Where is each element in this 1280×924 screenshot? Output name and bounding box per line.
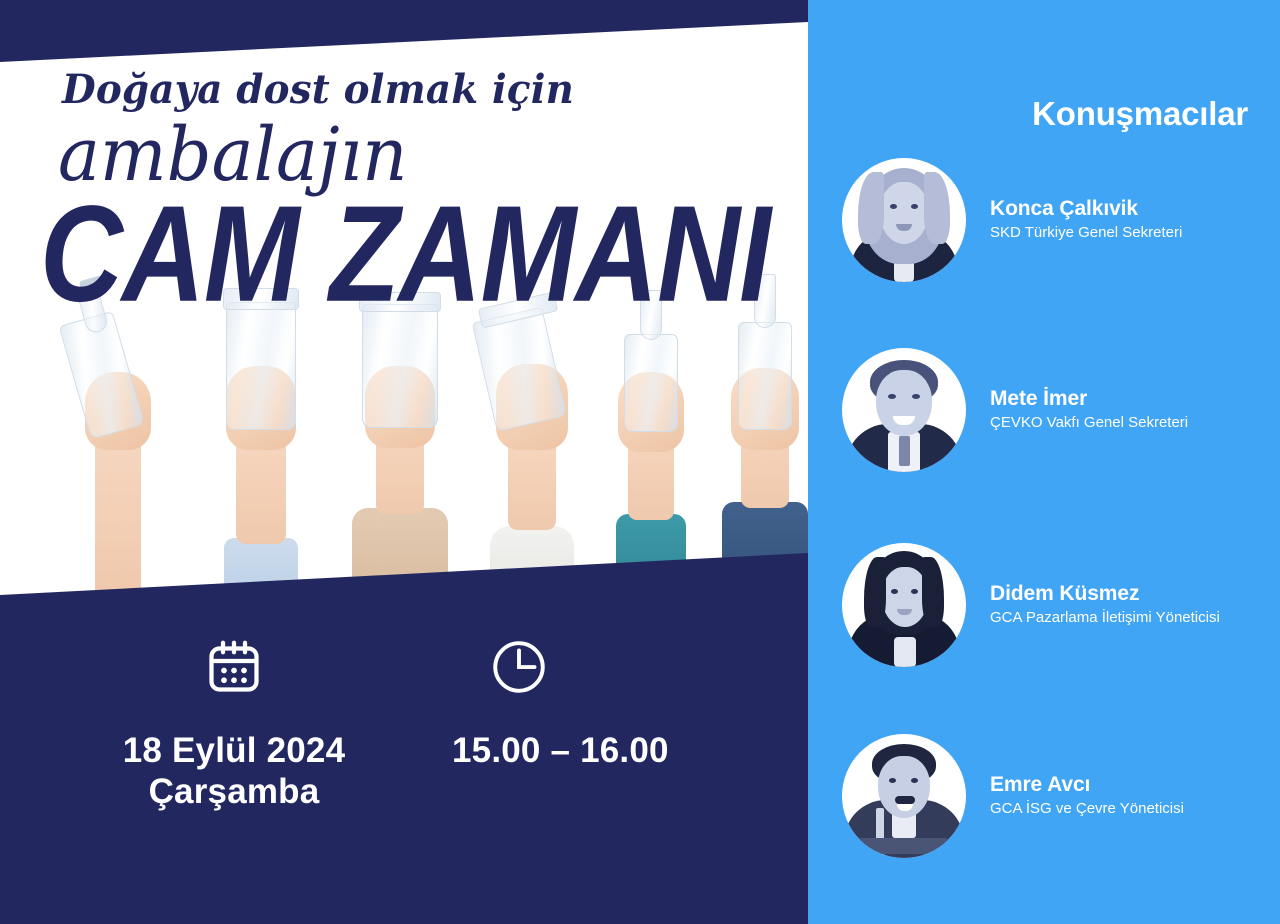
hand-5 xyxy=(586,300,716,600)
clock-icon xyxy=(450,630,750,704)
speaker-item: Mete İmer ÇEVKO Vakfı Genel Sekreteri xyxy=(808,348,1280,472)
speaker-item: Emre Avcı GCA İSG ve Çevre Yöneticisi xyxy=(808,734,1280,858)
hand-2 xyxy=(196,300,326,600)
speaker-role: ÇEVKO Vakfı Genel Sekreteri xyxy=(990,413,1188,433)
avatar xyxy=(842,348,966,472)
top-navy-band xyxy=(0,0,808,70)
avatar xyxy=(842,543,966,667)
headline-block: Doğaya dost olmak için ambalajın CAM ZAM… xyxy=(0,70,808,298)
speaker-name: Mete İmer xyxy=(990,386,1188,411)
event-poster: Doğaya dost olmak için ambalajın CAM ZAM… xyxy=(0,0,1280,924)
hand-3 xyxy=(330,300,470,600)
event-day: Çarşamba xyxy=(112,771,356,812)
speaker-role: GCA Pazarlama İletişimi Yöneticisi xyxy=(990,608,1220,628)
speaker-name: Konca Çalkıvik xyxy=(990,196,1182,221)
speakers-panel: Konuşmacılar Konca Çalkıvik SKD Türkiye … xyxy=(808,0,1280,924)
hand-4 xyxy=(462,300,602,600)
date-block: 18 Eylül 2024 Çarşamba xyxy=(112,630,412,813)
headline-line-3: CAM ZAMANI xyxy=(40,191,800,317)
time-block: 15.00 – 16.00 xyxy=(450,630,750,771)
event-time: 15.00 – 16.00 xyxy=(450,730,750,771)
hands-with-glass-containers-image xyxy=(0,300,808,600)
calendar-icon xyxy=(112,630,412,704)
speaker-item: Didem Küsmez GCA Pazarlama İletişimi Yön… xyxy=(808,543,1280,667)
speaker-name: Didem Küsmez xyxy=(990,581,1220,606)
avatar xyxy=(842,158,966,282)
avatar xyxy=(842,734,966,858)
speaker-role: SKD Türkiye Genel Sekreteri xyxy=(990,223,1182,243)
speaker-item: Konca Çalkıvik SKD Türkiye Genel Sekrete… xyxy=(808,158,1280,282)
speaker-role: GCA İSG ve Çevre Yöneticisi xyxy=(990,799,1184,819)
headline-line-1: Doğaya dost olmak için xyxy=(62,70,786,110)
event-date: 18 Eylül 2024 xyxy=(112,730,356,771)
speakers-panel-title: Konuşmacılar xyxy=(1032,95,1248,133)
left-content-area: Doğaya dost olmak için ambalajın CAM ZAM… xyxy=(0,0,808,924)
speaker-name: Emre Avcı xyxy=(990,772,1184,797)
event-details: 18 Eylül 2024 Çarşamba 15.00 – 16.00 xyxy=(0,630,808,924)
hand-1 xyxy=(58,300,178,600)
